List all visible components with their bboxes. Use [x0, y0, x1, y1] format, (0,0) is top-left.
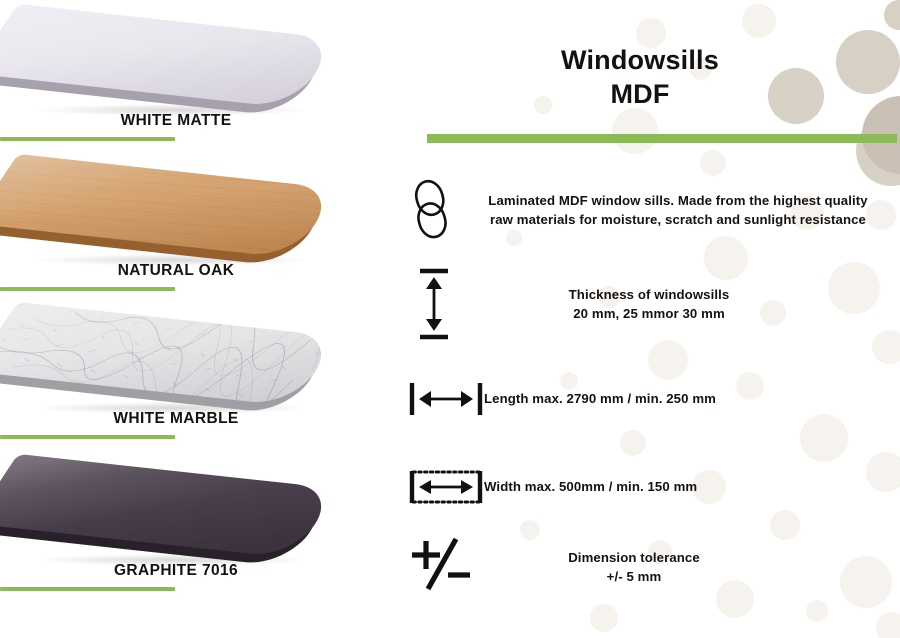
feature-text: Laminated MDF window sills. Made from th… [482, 191, 874, 229]
feature-text: Length max. 2790 mm / min. 250 mm [484, 389, 814, 408]
feature-icon-slot [400, 527, 486, 607]
laminate-layers-icon [406, 176, 464, 247]
product-image [0, 0, 400, 118]
feature-text: Dimension tolerance+/- 5 mm [484, 548, 784, 586]
product-label: GRAPHITE 7016 [0, 562, 352, 580]
product-image [0, 450, 400, 568]
feature-text: Thickness of windowsills20 mm, 25 mmor 3… [484, 285, 814, 323]
slab-top-face [0, 4, 338, 108]
info-column: Windowsills MDF Laminated MDF window sil… [400, 0, 900, 638]
feature-row: Width max. 500mm / min. 150 mm [400, 456, 900, 516]
feature-row: Thickness of windowsills20 mm, 25 mmor 3… [400, 262, 900, 346]
slab-top-face [0, 154, 338, 258]
slab-top-face [0, 454, 338, 558]
product-swatch-column: WHITE MATTENATURAL OAKWHITE MARBLEGRAPHI… [0, 0, 400, 638]
product-accent-rule [0, 287, 175, 291]
slab-sheen [0, 454, 338, 558]
width-arrow-icon [408, 468, 484, 511]
slab-finish-gloss [0, 454, 338, 558]
product-swatch[interactable]: NATURAL OAK [0, 150, 400, 305]
plus-minus-icon [406, 535, 476, 598]
slab-finish-matte [0, 4, 338, 108]
feature-row: Length max. 2790 mm / min. 250 mm [400, 368, 900, 428]
page-title-line1: Windowsills [430, 43, 850, 77]
product-image [0, 298, 400, 416]
feature-icon-slot [400, 264, 486, 344]
feature-icon-slot [400, 170, 486, 250]
width-arrow-glyph [408, 468, 484, 506]
product-accent-rule [0, 587, 175, 591]
thickness-arrow-icon [414, 267, 454, 346]
windowsill-slab [18, 4, 348, 108]
laminate-layers-glyph [406, 176, 464, 242]
feature-row: Dimension tolerance+/- 5 mm [400, 532, 900, 602]
feature-text: Width max. 500mm / min. 150 mm [484, 477, 814, 496]
feature-icon-slot [400, 446, 486, 526]
slab-sheen [0, 4, 338, 108]
product-accent-rule [0, 435, 175, 439]
product-image [0, 150, 400, 268]
product-label: WHITE MATTE [0, 112, 352, 130]
product-label: NATURAL OAK [0, 262, 352, 280]
windowsill-slab [18, 454, 348, 558]
page-title: Windowsills MDF [430, 43, 850, 111]
windowsill-slab [18, 154, 348, 258]
slab-finish-wood-grain [0, 154, 338, 258]
windowsill-slab [18, 302, 348, 406]
slab-sheen [0, 154, 338, 258]
feature-icon-slot [400, 358, 486, 438]
thickness-arrow-glyph [414, 267, 454, 341]
title-accent-rule [427, 134, 897, 143]
page-title-line2: MDF [430, 77, 850, 111]
slab-sheen [0, 302, 338, 406]
slab-top-face [0, 302, 338, 406]
product-label: WHITE MARBLE [0, 410, 352, 428]
length-arrow-icon [408, 380, 484, 423]
product-swatch[interactable]: WHITE MATTE [0, 0, 400, 155]
length-arrow-glyph [408, 380, 484, 418]
plus-minus-glyph [406, 535, 476, 593]
slab-finish-marble-veins [0, 302, 338, 406]
infographic-canvas: WHITE MATTENATURAL OAKWHITE MARBLEGRAPHI… [0, 0, 900, 638]
product-swatch[interactable]: GRAPHITE 7016 [0, 450, 400, 605]
product-swatch[interactable]: WHITE MARBLE [0, 298, 400, 453]
product-accent-rule [0, 137, 175, 141]
feature-row: Laminated MDF window sills. Made from th… [400, 168, 900, 252]
